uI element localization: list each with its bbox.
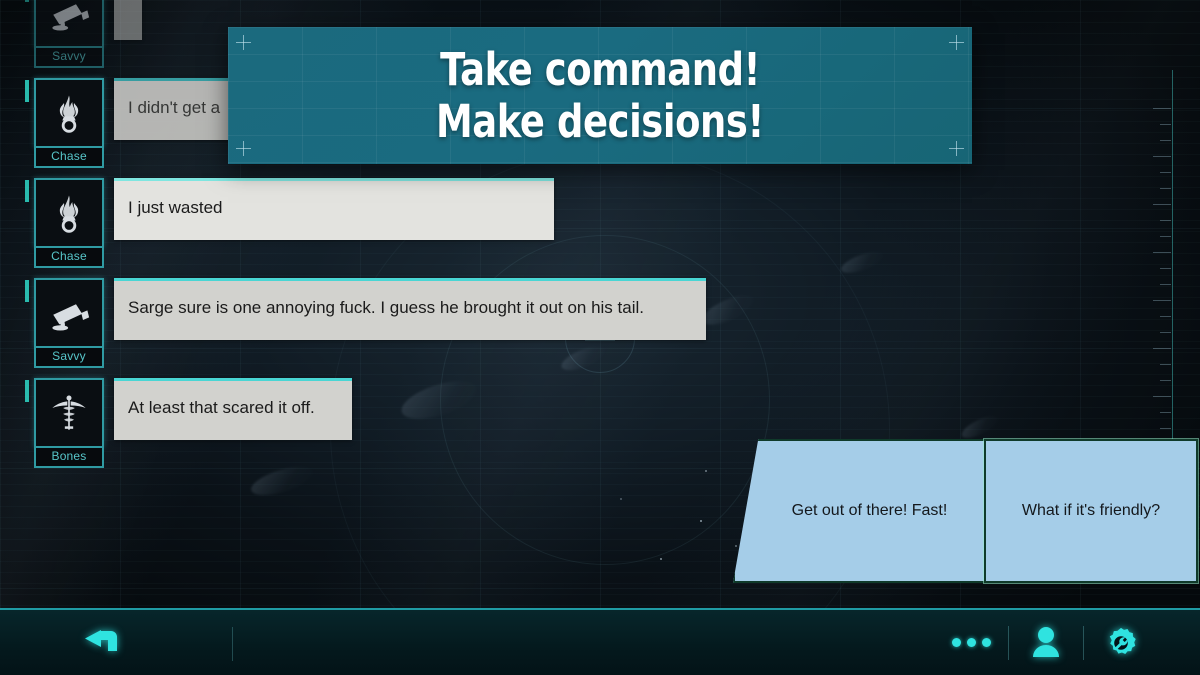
gear-wrench-icon [1104,626,1138,660]
avatar[interactable]: Savvy [34,0,104,68]
avatar[interactable]: Chase [34,78,104,168]
entry-tick-marker [25,80,29,102]
dialogue-bubble: Sarge sure is one annoying fuck. I guess… [114,278,706,340]
profile-button[interactable] [1009,609,1083,675]
settings-button[interactable] [1084,609,1158,675]
avatar-frame [34,78,104,148]
security-camera-icon [48,0,90,34]
avatar-frame [34,278,104,348]
back-button[interactable] [72,609,146,675]
promo-headline-line1: Take command! [440,44,760,96]
dialogue-bubble [114,0,142,40]
crosshair-mark-icon [949,35,964,50]
toolbar-divider [232,627,233,661]
bottom-toolbar [0,608,1200,675]
promo-banner: Take command! Make decisions! [228,27,972,164]
more-options-button[interactable] [934,609,1008,675]
crosshair-mark-icon [236,35,251,50]
avatar[interactable]: Bones [34,378,104,468]
avatar-frame [34,378,104,448]
flaming-grenade-icon [49,193,89,233]
game-screen: Savvy C [0,0,1200,675]
avatar-frame [34,0,104,48]
avatar-name-label: Savvy [34,48,104,68]
avatar-name-label: Savvy [34,348,104,368]
back-arrow-icon [79,625,139,661]
avatar-frame [34,178,104,248]
promo-headline-line2: Make decisions! [436,96,764,148]
avatar[interactable]: Savvy [34,278,104,368]
security-camera-icon [48,292,90,334]
crosshair-mark-icon [236,141,251,156]
entry-tick-marker [25,180,29,202]
dialogue-entry: Savvy Sarge sure is one annoying fuck. I… [34,278,734,368]
crosshair-mark-icon [949,141,964,156]
avatar[interactable]: Chase [34,178,104,268]
avatar-name-label: Bones [34,448,104,468]
avatar-name-label: Chase [34,148,104,168]
person-icon [1030,626,1062,660]
choice-panel: Get out of there! Fast! What if it's fri… [733,439,1200,583]
choice-button-1[interactable]: Get out of there! Fast! [733,439,986,583]
choice-button-2[interactable]: What if it's friendly? [984,439,1198,583]
flaming-grenade-icon [49,93,89,133]
ellipsis-icon [949,638,994,647]
dialogue-bubble: At least that scared it off. [114,378,352,440]
entry-tick-marker [25,0,29,2]
dialogue-entry: Chase I just wasted [34,178,734,268]
dialogue-bubble: I just wasted [114,178,554,240]
entry-tick-marker [25,380,29,402]
caduceus-icon [49,393,89,433]
entry-tick-marker [25,280,29,302]
dialogue-entry: Bones At least that scared it off. [34,378,734,468]
avatar-name-label: Chase [34,248,104,268]
